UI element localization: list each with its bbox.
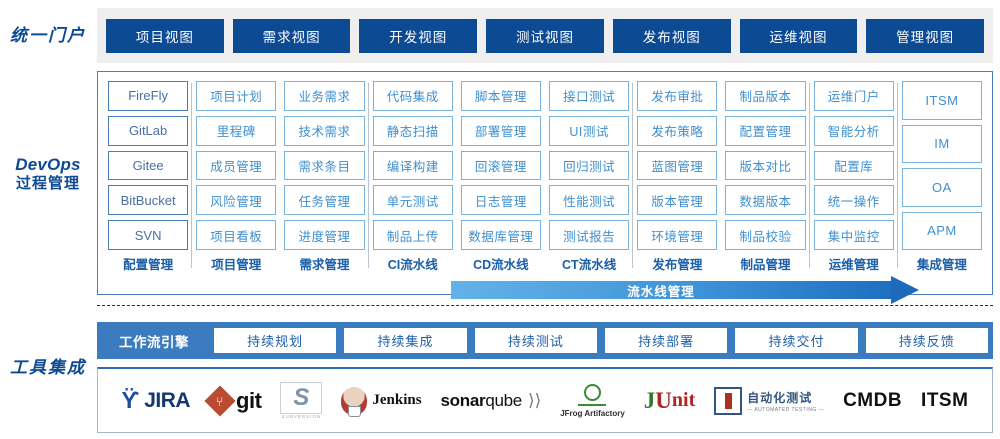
workflow-stage[interactable]: 持续交付 (735, 328, 857, 353)
devops-label-en: DevOps (0, 155, 96, 175)
subversion-mark-icon: S (280, 382, 322, 414)
column-caption: CI流水线 (369, 252, 457, 274)
capability-cell[interactable]: 集中监控 (814, 220, 894, 250)
devops-column-requirement: 业务需求 技术需求 需求条目 任务管理 进度管理 (280, 81, 368, 250)
jenkins-butler-icon (341, 387, 367, 415)
capability-cell[interactable]: 需求条目 (284, 151, 364, 181)
portal-view-button[interactable]: 管理视图 (866, 19, 984, 53)
jfrog-wordmark: JFrog Artifactory (560, 409, 625, 418)
capability-cell[interactable]: 性能测试 (549, 185, 629, 215)
capability-cell[interactable]: 里程碑 (196, 116, 276, 146)
column-caption: 需求管理 (280, 252, 368, 274)
capability-cell[interactable]: 脚本管理 (461, 81, 541, 111)
capability-cell[interactable]: 任务管理 (284, 185, 364, 215)
column-caption: 运维管理 (810, 252, 898, 274)
arrow-head-icon (891, 276, 919, 304)
junit-logo: J U nit (644, 379, 695, 423)
sonarqube-bold-part: sonar (441, 391, 486, 410)
capability-cell[interactable]: 部署管理 (461, 116, 541, 146)
capability-cell[interactable]: 成员管理 (196, 151, 276, 181)
capability-cell[interactable]: 配置管理 (725, 116, 805, 146)
capability-cell[interactable]: 数据版本 (725, 185, 805, 215)
capability-cell[interactable]: 风险管理 (196, 185, 276, 215)
capability-cell[interactable]: 业务需求 (284, 81, 364, 111)
devops-column-artifact: 制品版本 配置管理 版本对比 数据版本 制品校验 (721, 81, 809, 250)
capability-cell[interactable]: 静态扫描 (373, 116, 453, 146)
sonarqube-light-part: qube (485, 391, 522, 410)
jfrog-artifactory-logo: JFrog Artifactory (560, 379, 625, 423)
workflow-engine-band: 工作流引擎 持续规划 持续集成 持续测试 持续部署 持续交付 持续反馈 (97, 322, 993, 359)
capability-cell[interactable]: 发布审批 (637, 81, 717, 111)
itsm-wordmark: ITSM (921, 390, 968, 412)
column-caption: CT流水线 (545, 252, 633, 274)
subversion-wordmark: SUBVERSION (282, 414, 322, 419)
portal-view-button[interactable]: 需求视图 (233, 19, 351, 53)
devops-column-captions: 配置管理 项目管理 需求管理 CI流水线 CD流水线 CT流水线 发布管理 制品… (98, 252, 992, 274)
automated-testing-mark-icon (714, 387, 742, 415)
capability-cell[interactable]: BitBucket (108, 185, 188, 215)
capability-cell[interactable]: 编译构建 (373, 151, 453, 181)
git-diamond-icon: ⑂ (204, 385, 235, 416)
capability-cell[interactable]: 制品版本 (725, 81, 805, 111)
pipeline-flow-arrow: 流水线管理 (451, 279, 938, 301)
section-divider (97, 305, 993, 306)
portal-button-band: 项目视图 需求视图 开发视图 测试视图 发布视图 运维视图 管理视图 (97, 8, 993, 63)
capability-cell[interactable]: 测试报告 (549, 220, 629, 250)
junit-j-mark: J (644, 388, 656, 414)
jfrog-circle-icon (584, 384, 601, 401)
capability-cell[interactable]: 回归测试 (549, 151, 629, 181)
capability-cell[interactable]: 蓝图管理 (637, 151, 717, 181)
workflow-stage[interactable]: 持续反馈 (866, 328, 988, 353)
capability-cell[interactable]: FireFly (108, 81, 188, 111)
capability-cell[interactable]: 接口测试 (549, 81, 629, 111)
portal-view-button[interactable]: 项目视图 (106, 19, 224, 53)
capability-cell[interactable]: 环境管理 (637, 220, 717, 250)
automated-testing-cn: 自动化测试 (747, 389, 812, 406)
portal-view-button[interactable]: 测试视图 (486, 19, 604, 53)
cmdb-logo: CMDB (843, 379, 902, 423)
column-caption: 项目管理 (192, 252, 280, 274)
capability-cell[interactable]: UI测试 (549, 116, 629, 146)
column-caption: 集成管理 (898, 252, 986, 274)
column-caption: 制品管理 (721, 252, 809, 274)
portal-view-button[interactable]: 发布视图 (613, 19, 731, 53)
pipeline-arrow-bar: 流水线管理 (451, 281, 891, 299)
jira-logo: ϔ JIRA (121, 379, 190, 423)
section-label-tools: 工具集成 (0, 358, 96, 378)
workflow-stage[interactable]: 持续测试 (475, 328, 597, 353)
capability-cell[interactable]: 版本管理 (637, 185, 717, 215)
junit-nit-mark: nit (672, 389, 695, 412)
devops-column-ci: 代码集成 静态扫描 编译构建 单元测试 制品上传 (369, 81, 457, 250)
devops-column-release: 发布审批 发布策略 蓝图管理 版本管理 环境管理 (633, 81, 721, 250)
capability-cell[interactable]: 统一操作 (814, 185, 894, 215)
junit-u-mark: U (655, 388, 672, 414)
capability-cell[interactable]: IM (902, 125, 982, 164)
column-caption: CD流水线 (457, 252, 545, 274)
workflow-stage[interactable]: 持续部署 (605, 328, 727, 353)
capability-cell[interactable]: 制品校验 (725, 220, 805, 250)
capability-cell[interactable]: 日志管理 (461, 185, 541, 215)
portal-view-button[interactable]: 开发视图 (359, 19, 477, 53)
devops-column-config: FireFly GitLab Gitee BitBucket SVN (104, 81, 192, 250)
capability-cell[interactable]: GitLab (108, 116, 188, 146)
capability-cell[interactable]: 智能分析 (814, 116, 894, 146)
capability-cell[interactable]: 版本对比 (725, 151, 805, 181)
capability-cell[interactable]: 项目计划 (196, 81, 276, 111)
devops-column-operations: 运维门户 智能分析 配置库 统一操作 集中监控 (810, 81, 898, 250)
capability-cell[interactable]: 单元测试 (373, 185, 453, 215)
subversion-logo: S SUBVERSION (280, 379, 322, 423)
devops-column-integration: ITSM IM OA APM (898, 81, 986, 250)
portal-view-button[interactable]: 运维视图 (740, 19, 858, 53)
capability-cell[interactable]: 技术需求 (284, 116, 364, 146)
tool-logo-strip: ϔ JIRA ⑂ git S SUBVERSION Jenkins sonarq… (97, 367, 993, 433)
capability-cell[interactable]: 代码集成 (373, 81, 453, 111)
capability-cell[interactable]: 项目看板 (196, 220, 276, 250)
section-label-devops: DevOps 过程管理 (0, 155, 96, 193)
capability-cell[interactable]: 配置库 (814, 151, 894, 181)
jenkins-logo: Jenkins (341, 379, 421, 423)
column-caption: 配置管理 (104, 252, 192, 274)
capability-cell[interactable]: 进度管理 (284, 220, 364, 250)
automated-testing-logo: 自动化测试 — AUTOMATED TESTING — (714, 379, 824, 423)
pipeline-arrow-label: 流水线管理 (627, 281, 695, 300)
devops-column-project: 项目计划 里程碑 成员管理 风险管理 项目看板 (192, 81, 280, 250)
capability-cell[interactable]: SVN (108, 220, 188, 250)
sonarqube-wave-icon: ⟩⟩ (528, 391, 541, 411)
git-wordmark: git (236, 388, 261, 414)
cmdb-wordmark: CMDB (843, 390, 902, 412)
column-caption: 发布管理 (633, 252, 721, 274)
capability-cell[interactable]: APM (902, 212, 982, 251)
workflow-stage[interactable]: 持续集成 (344, 328, 466, 353)
git-logo: ⑂ git (209, 379, 261, 423)
capability-cell[interactable]: 数据库管理 (461, 220, 541, 250)
itsm-logo: ITSM (921, 379, 968, 423)
section-label-portal: 统一门户 (0, 26, 96, 46)
sonarqube-wordmark: sonarqube (441, 391, 522, 411)
workflow-engine-label: 工作流引擎 (102, 331, 206, 351)
capability-cell[interactable]: ITSM (902, 81, 982, 120)
jfrog-underline-icon (578, 404, 606, 406)
automated-testing-en: — AUTOMATED TESTING — (747, 407, 824, 413)
devops-label-cn: 过程管理 (0, 175, 96, 193)
capability-cell[interactable]: Gitee (108, 151, 188, 181)
devops-column-ct: 接口测试 UI测试 回归测试 性能测试 测试报告 (545, 81, 633, 250)
sonarqube-logo: sonarqube ⟩⟩ (441, 379, 542, 423)
capability-cell[interactable]: 运维门户 (814, 81, 894, 111)
devops-column-cd: 脚本管理 部署管理 回滚管理 日志管理 数据库管理 (457, 81, 545, 250)
capability-cell[interactable]: 回滚管理 (461, 151, 541, 181)
devops-capability-grid: FireFly GitLab Gitee BitBucket SVN 项目计划 … (98, 72, 992, 250)
capability-cell[interactable]: 发布策略 (637, 116, 717, 146)
capability-cell[interactable]: 制品上传 (373, 220, 453, 250)
jira-mark-icon: ϔ (121, 389, 139, 412)
capability-cell[interactable]: OA (902, 168, 982, 207)
jira-wordmark: JIRA (144, 389, 190, 413)
jenkins-wordmark: Jenkins (372, 392, 421, 409)
workflow-stage[interactable]: 持续规划 (214, 328, 336, 353)
automated-testing-text-block: 自动化测试 — AUTOMATED TESTING — (747, 389, 824, 413)
devops-panel: FireFly GitLab Gitee BitBucket SVN 项目计划 … (97, 71, 993, 295)
